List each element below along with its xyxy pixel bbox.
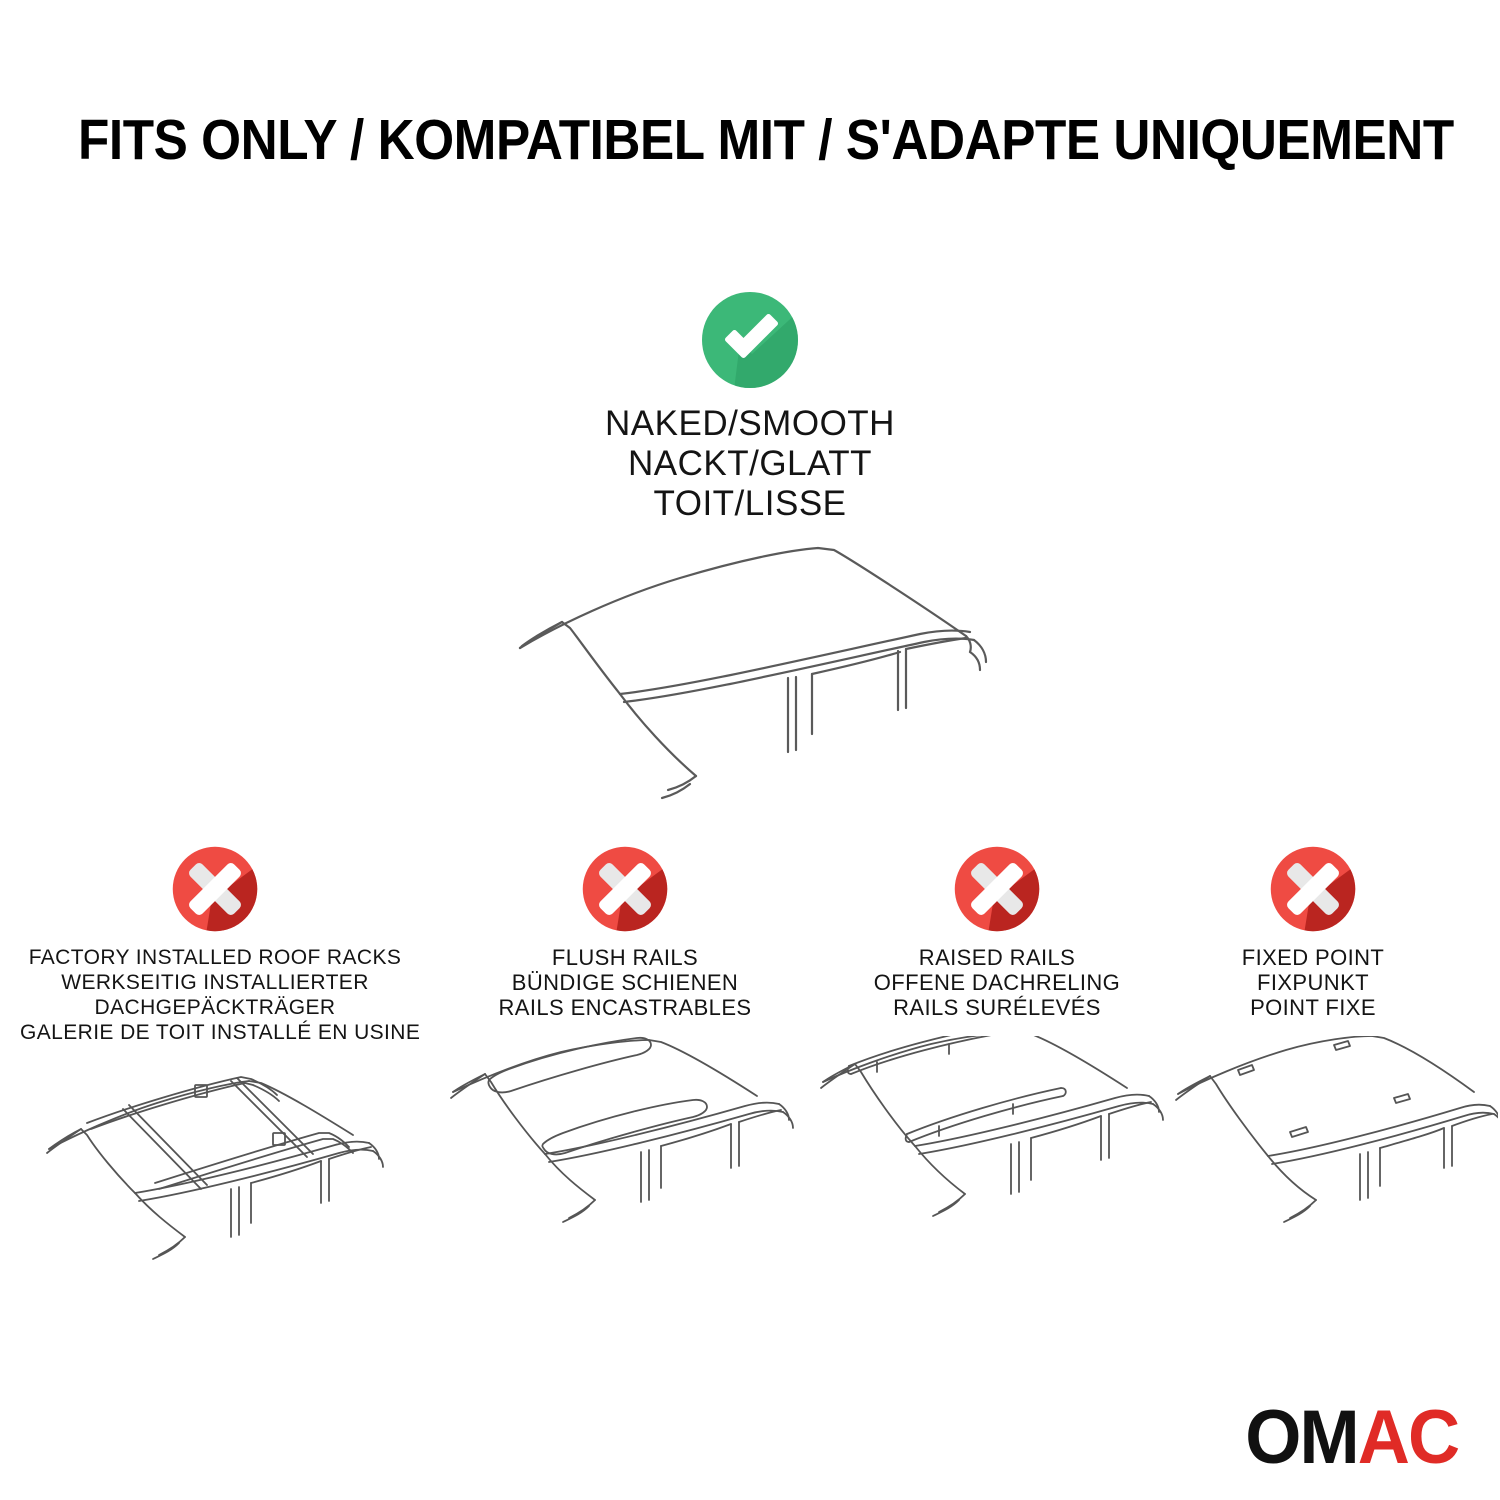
label-line-2: OFFENE DACHRELING — [812, 970, 1182, 995]
compatible-section: NAKED/SMOOTH NACKT/GLATT TOIT/LISSE — [0, 290, 1500, 803]
label-line-2: WERKSEITIG INSTALLIERTER — [20, 970, 410, 995]
label-line-2: BÜNDIGE SCHIENEN — [440, 970, 810, 995]
label-line-3: DACHGEPÄCKTRÄGER — [20, 995, 410, 1020]
flush-rails-illustration — [445, 1036, 805, 1236]
label-line-1: FLUSH RAILS — [440, 945, 810, 970]
logo-text-black: OM — [1245, 1395, 1358, 1480]
x-circle-icon — [581, 845, 669, 933]
naked-smooth-roof-illustration — [500, 538, 1000, 803]
logo-text-red: AC — [1358, 1395, 1458, 1480]
omac-logo: OMAC — [1245, 1398, 1458, 1478]
label-group: FIXED POINT FIXPUNKT POINT FIXE — [1168, 945, 1458, 1020]
factory-roof-rack-illustration — [35, 1061, 395, 1261]
page-title: FITS ONLY / KOMPATIBEL MIT / S'ADAPTE UN… — [78, 108, 1454, 172]
compatible-label-line-3: TOIT/LISSE — [0, 484, 1500, 524]
label-line-1: FIXED POINT — [1168, 945, 1458, 970]
label-line-1: RAISED RAILS — [812, 945, 1182, 970]
label-line-1: FACTORY INSTALLED ROOF RACKS — [20, 945, 410, 970]
label-line-3: RAILS ENCASTRABLES — [440, 995, 810, 1020]
label-group: FACTORY INSTALLED ROOF RACKS WERKSEITIG … — [20, 945, 410, 1045]
raised-rails-illustration — [817, 1036, 1177, 1236]
label-line-2: FIXPUNKT — [1168, 970, 1458, 995]
x-circle-icon — [171, 845, 259, 933]
label-line-4: GALERIE DE TOIT INSTALLÉ EN USINE — [20, 1020, 410, 1045]
check-circle-icon — [700, 290, 800, 390]
label-group: RAISED RAILS OFFENE DACHRELING RAILS SUR… — [812, 945, 1182, 1020]
fixed-point-illustration — [1168, 1036, 1498, 1236]
label-line-3: POINT FIXE — [1168, 995, 1458, 1020]
not-compatible-section: FACTORY INSTALLED ROOF RACKS WERKSEITIG … — [0, 845, 1500, 1285]
not-compatible-item-raised-rails: RAISED RAILS OFFENE DACHRELING RAILS SUR… — [812, 845, 1182, 1236]
not-compatible-item-factory-roof-racks: FACTORY INSTALLED ROOF RACKS WERKSEITIG … — [20, 845, 410, 1261]
label-line-3: RAILS SURÉLEVÉS — [812, 995, 1182, 1020]
x-circle-icon — [1269, 845, 1357, 933]
compatible-label-line-2: NACKT/GLATT — [0, 444, 1500, 484]
not-compatible-item-flush-rails: FLUSH RAILS BÜNDIGE SCHIENEN RAILS ENCAS… — [440, 845, 810, 1236]
compatible-label-line-1: NAKED/SMOOTH — [0, 404, 1500, 444]
x-circle-icon — [953, 845, 1041, 933]
compatible-label-group: NAKED/SMOOTH NACKT/GLATT TOIT/LISSE — [0, 404, 1500, 524]
label-group: FLUSH RAILS BÜNDIGE SCHIENEN RAILS ENCAS… — [440, 945, 810, 1020]
not-compatible-item-fixed-point: FIXED POINT FIXPUNKT POINT FIXE — [1168, 845, 1458, 1236]
